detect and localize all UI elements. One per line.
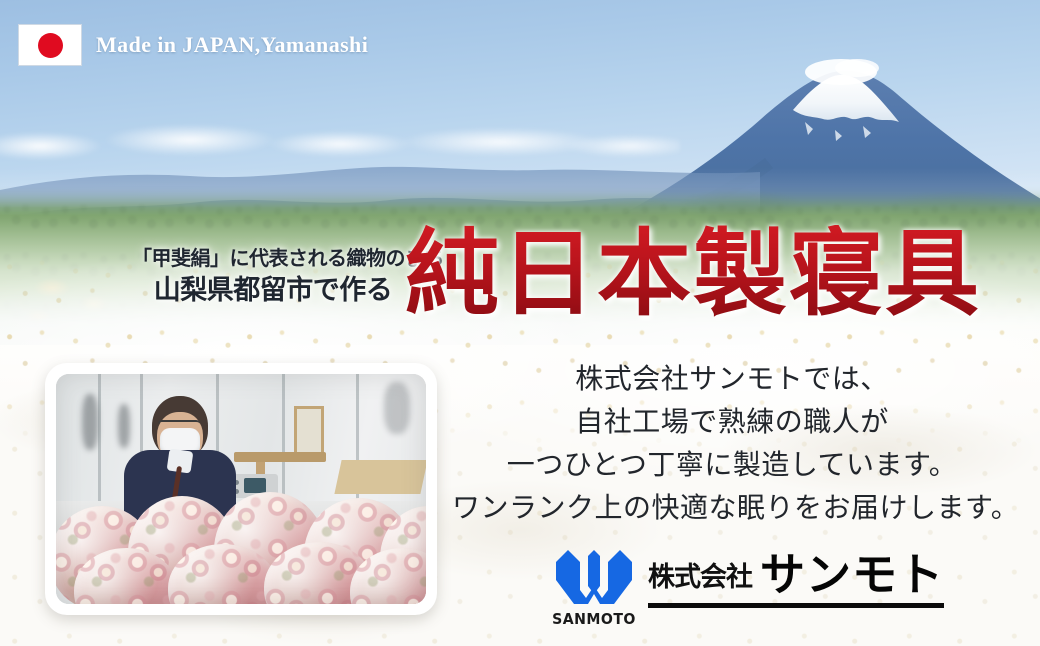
made-in-japan-label: Made in JAPAN,Yamanashi <box>96 32 368 58</box>
main-headline: 純日本製寝具 <box>405 225 981 324</box>
subheadline-line-2: 山梨県都留市で作る <box>132 275 414 307</box>
body-copy: 株式会社サンモトでは、 自社工場で熟練の職人が 一つひとつ丁寧に製造しています。… <box>452 358 1012 530</box>
japan-flag-icon <box>18 24 82 66</box>
sanmoto-w-mark-icon <box>548 546 640 608</box>
logo-mark-wrapper: SANMOTO <box>548 546 644 628</box>
logo-company-prefix: 株式会社 <box>648 555 752 597</box>
logo-company-name: サンモト <box>760 552 944 597</box>
craftsman-with-futons-photo <box>56 374 426 604</box>
photo-vignette <box>56 374 426 604</box>
copy-line-2: 自社工場で熟練の職人が <box>452 401 1012 444</box>
subheadline-line-1: 「甲斐絹」に代表される織物のまち <box>132 248 414 272</box>
copy-line-4: ワンランク上の快適な眠りをお届けします。 <box>452 487 1012 530</box>
logo-romaji: SANMOTO <box>551 610 637 628</box>
copy-line-1: 株式会社サンモトでは、 <box>452 358 1012 401</box>
copy-line-3: 一つひとつ丁寧に製造しています。 <box>452 444 1012 487</box>
company-logo: SANMOTO 株式会社 サンモト <box>548 546 944 628</box>
craftsman-photo-card <box>45 363 437 615</box>
logo-wordmark: 株式会社 サンモト <box>648 546 944 608</box>
made-in-japan-badge: Made in JAPAN,Yamanashi <box>18 24 368 66</box>
logo-underline <box>648 603 944 608</box>
subheadline: 「甲斐絹」に代表される織物のまち 山梨県都留市で作る <box>132 248 414 306</box>
promo-banner: Made in JAPAN,Yamanashi 「甲斐絹」に代表される織物のまち… <box>0 0 1040 646</box>
flag-red-disc <box>38 33 63 58</box>
